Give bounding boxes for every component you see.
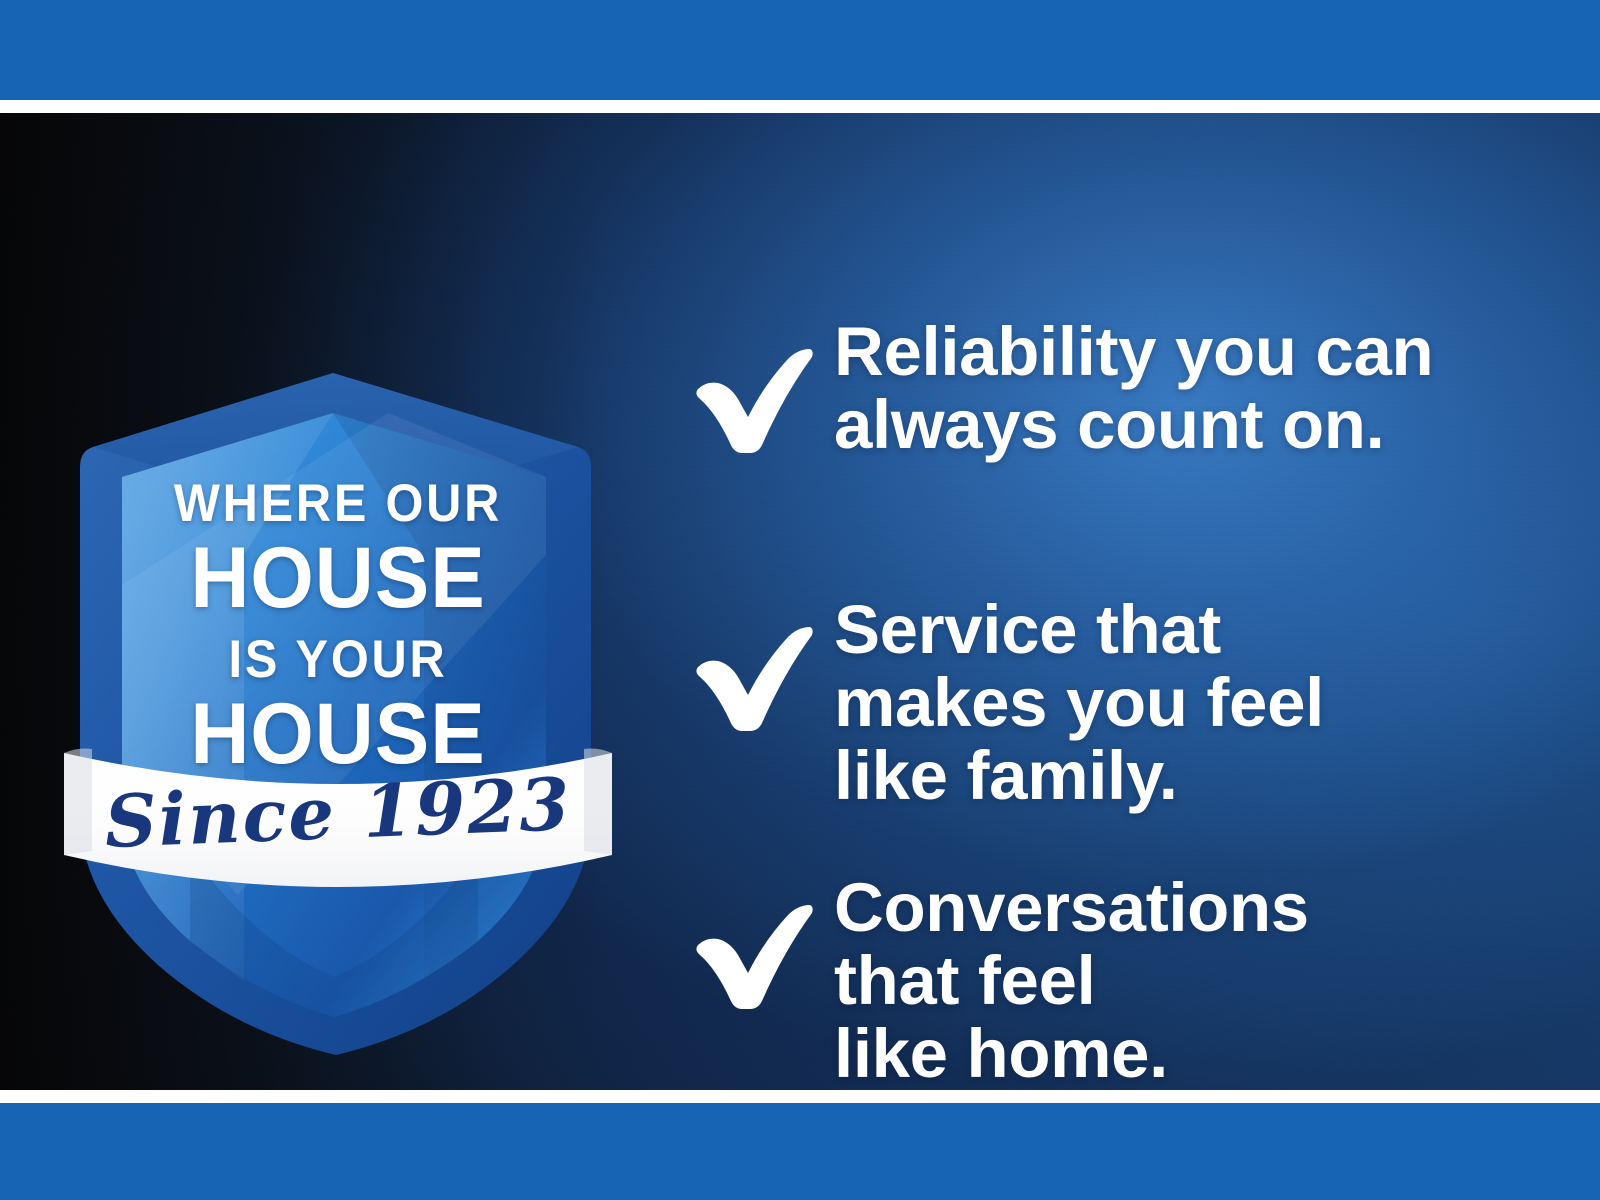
promo-poster: WHERE OUR HOUSE IS YOUR HOUSE Since 1923… — [0, 0, 1600, 1200]
benefit-2-line-1: Service that — [834, 593, 1552, 666]
check-icon — [680, 337, 820, 457]
benefit-1-line-1: Reliability you can — [834, 315, 1552, 388]
bottom-brand-bar — [0, 1103, 1600, 1200]
benefit-1-line-2: always count on. — [834, 388, 1552, 461]
benefits-list: Reliability you can always count on. Ser… — [672, 309, 1552, 1090]
benefit-2-line-3: like family. — [834, 739, 1552, 812]
benefit-3-line-2: that feel — [834, 944, 1552, 1017]
benefit-item-1: Reliability you can always count on. — [672, 315, 1552, 535]
company-badge-logo: WHERE OUR HOUSE IS YOUR HOUSE Since 1923 — [58, 255, 618, 1065]
badge-line-where-our: WHERE OUR — [80, 477, 595, 530]
benefit-3-line-3: like home. — [834, 1017, 1552, 1090]
benefit-2-line-2: makes you feel — [834, 666, 1552, 739]
benefit-3-line-1: Conversations — [834, 871, 1552, 944]
badge-line-is-your: IS YOUR — [80, 633, 595, 686]
benefit-text-3: Conversations that feel like home. — [834, 871, 1552, 1090]
badge-line-house-1: HOUSE — [72, 535, 604, 621]
benefit-text-2: Service that makes you feel like family. — [834, 593, 1552, 812]
benefit-item-3: Conversations that feel like home. — [672, 871, 1552, 1090]
check-icon — [680, 893, 820, 1013]
benefit-item-2: Service that makes you feel like family. — [672, 593, 1552, 813]
benefit-text-1: Reliability you can always count on. — [834, 315, 1552, 461]
check-icon — [680, 615, 820, 735]
top-brand-bar — [0, 0, 1600, 100]
badge-ribbon-since-1923: Since 1923 — [57, 766, 619, 859]
main-content-panel: WHERE OUR HOUSE IS YOUR HOUSE Since 1923… — [0, 113, 1600, 1090]
